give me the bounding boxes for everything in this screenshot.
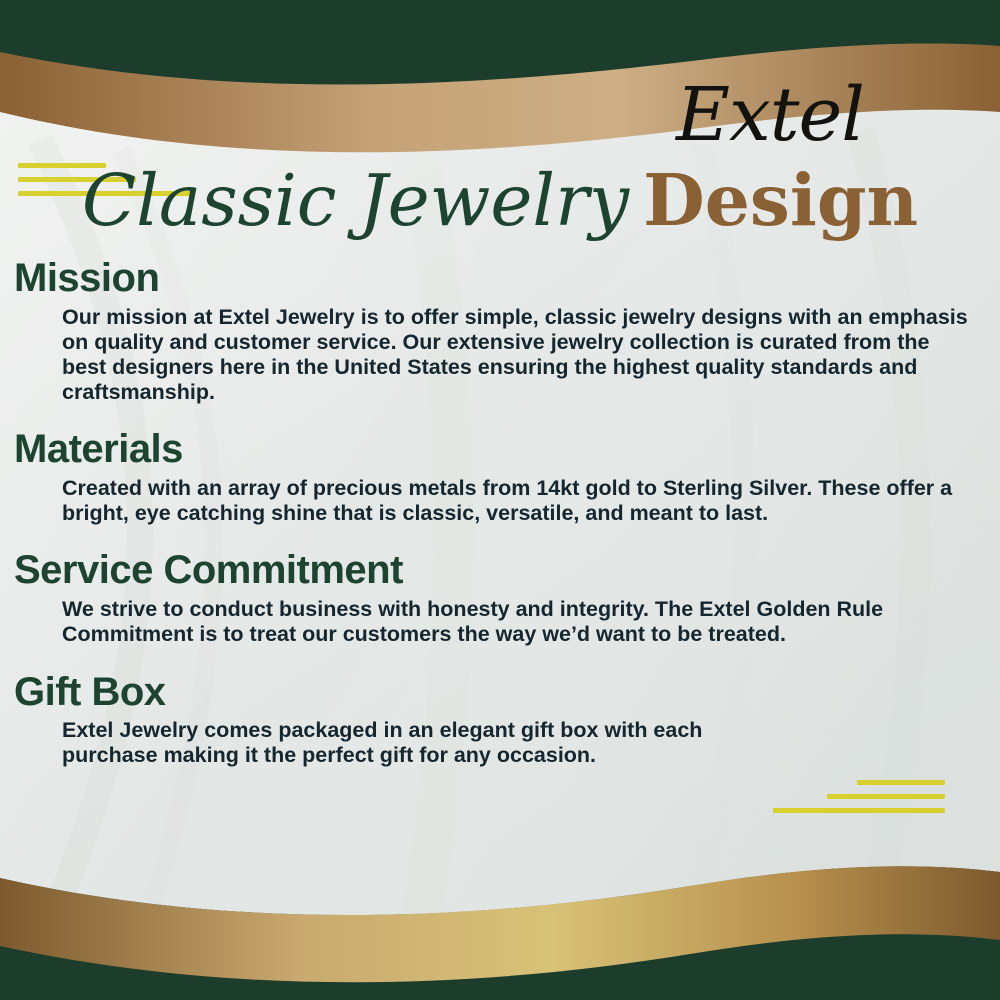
page-title: Classic JewelryDesign: [0, 158, 1000, 242]
section-body: Extel Jewelry comes packaged in an elega…: [62, 718, 782, 768]
section-service-commitment: Service Commitment We strive to conduct …: [14, 548, 984, 647]
section-heading: Materials: [14, 427, 984, 472]
section-gift-box: Gift Box Extel Jewelry comes packaged in…: [14, 670, 984, 769]
page-title-main: Classic Jewelry: [82, 159, 629, 242]
decor-line: [773, 808, 945, 813]
section-materials: Materials Created with an array of preci…: [14, 427, 984, 526]
section-body: Our mission at Extel Jewelry is to offer…: [62, 305, 977, 406]
decor-line: [827, 794, 945, 799]
content-sections: Mission Our mission at Extel Jewelry is …: [14, 256, 984, 785]
page-title-accent: Design: [643, 158, 918, 242]
section-heading: Service Commitment: [14, 548, 984, 593]
poster-canvas: Extel Classic JewelryDesign Mission Our …: [0, 0, 1000, 1000]
section-body: We strive to conduct business with hones…: [62, 597, 977, 647]
brand-wordmark: Extel: [600, 78, 940, 152]
section-body: Created with an array of precious metals…: [62, 476, 977, 526]
decor-lines-bottom: [773, 780, 945, 822]
section-heading: Mission: [14, 256, 984, 301]
section-mission: Mission Our mission at Extel Jewelry is …: [14, 256, 984, 405]
section-heading: Gift Box: [14, 670, 984, 715]
